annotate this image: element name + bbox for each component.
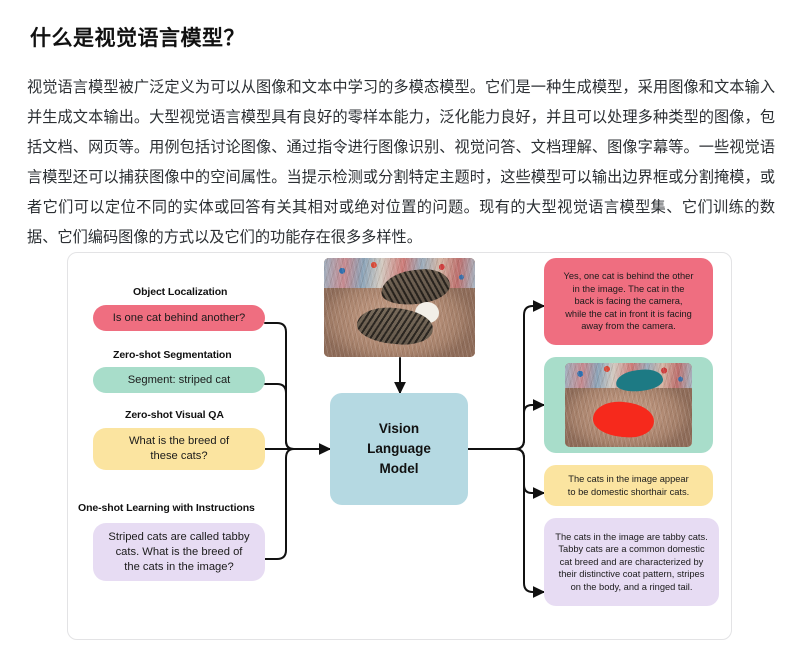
- prompt-bubble-zero-shot-visual-qa[interactable]: What is the breed of these cats?: [93, 428, 265, 470]
- page-title: 什么是视觉语言模型？: [30, 22, 245, 52]
- output-line: The cats in the image are tabby cats.: [555, 531, 707, 544]
- prompt-bubble-object-localization[interactable]: Is one cat behind another?: [93, 305, 265, 331]
- output-line: while the cat in front it is facing: [565, 308, 692, 321]
- task-label-object-localization: Object Localization: [133, 286, 227, 298]
- task-label-one-shot-learning: One-shot Learning with Instructions: [78, 502, 255, 514]
- output-bubble-visual-qa[interactable]: The cats in the image appear to be domes…: [544, 465, 713, 506]
- output-line: away from the camera.: [581, 320, 676, 333]
- output-line: their distinctive coat pattern, stripes: [559, 568, 705, 581]
- article-paragraph: 视觉语言模型被广泛定义为可以从图像和文本中学习的多模态模型。它们是一种生成模型，…: [27, 73, 775, 253]
- task-label-zero-shot-visual-qa: Zero-shot Visual QA: [125, 409, 224, 421]
- prompt-line: What is the breed of: [129, 434, 229, 449]
- prompt-line: these cats?: [150, 449, 207, 464]
- connector-localization: [265, 323, 294, 449]
- model-line: Language: [367, 439, 431, 459]
- prompt-line: Striped cats are called tabby: [108, 530, 249, 545]
- photo-content: [324, 258, 475, 357]
- model-line: Vision: [379, 419, 419, 439]
- output-line: Tabby cats are a common domestic: [558, 543, 704, 556]
- vlm-diagram: Object Localization Is one cat behind an…: [68, 253, 731, 639]
- output-line: Yes, one cat is behind the other: [564, 270, 694, 283]
- output-bubble-segmentation[interactable]: [544, 357, 713, 453]
- output-line: cat breed and are characterized by: [560, 556, 704, 569]
- prompt-line: the cats in the image?: [124, 560, 233, 575]
- connector-out-segmentation: [515, 405, 544, 449]
- connector-out-one-shot: [515, 449, 544, 592]
- model-line: Model: [380, 459, 419, 479]
- connector-out-visual-qa: [515, 449, 544, 493]
- output-line: The cats in the image appear: [568, 473, 688, 486]
- output-line: on the body, and a ringed tail.: [571, 581, 693, 594]
- connector-one-shot: [265, 449, 294, 559]
- photo-content: [565, 363, 692, 447]
- prompt-bubble-one-shot-learning[interactable]: Striped cats are called tabby cats. What…: [93, 523, 265, 581]
- task-label-zero-shot-segmentation: Zero-shot Segmentation: [113, 349, 232, 361]
- prompt-line: cats. What is the breed of: [116, 545, 243, 560]
- prompt-bubble-zero-shot-segmentation[interactable]: Segment: striped cat: [93, 367, 265, 393]
- output-bubble-one-shot-learning[interactable]: The cats in the image are tabby cats. Ta…: [544, 518, 719, 606]
- page-root: 什么是视觉语言模型？ 视觉语言模型被广泛定义为可以从图像和文本中学习的多模态模型…: [0, 0, 800, 648]
- segmentation-result-photo: [565, 363, 692, 447]
- output-line: to be domestic shorthair cats.: [568, 486, 689, 499]
- output-line: back is facing the camera,: [575, 295, 683, 308]
- vision-language-model-box[interactable]: Vision Language Model: [330, 393, 468, 505]
- connector-out-localization: [515, 306, 544, 449]
- output-line: in the image. The cat in the: [573, 283, 685, 296]
- figure-panel: Object Localization Is one cat behind an…: [67, 252, 732, 640]
- connector-segmentation: [265, 384, 294, 449]
- input-photo-two-cats: [324, 258, 475, 357]
- output-bubble-object-localization[interactable]: Yes, one cat is behind the other in the …: [544, 258, 713, 345]
